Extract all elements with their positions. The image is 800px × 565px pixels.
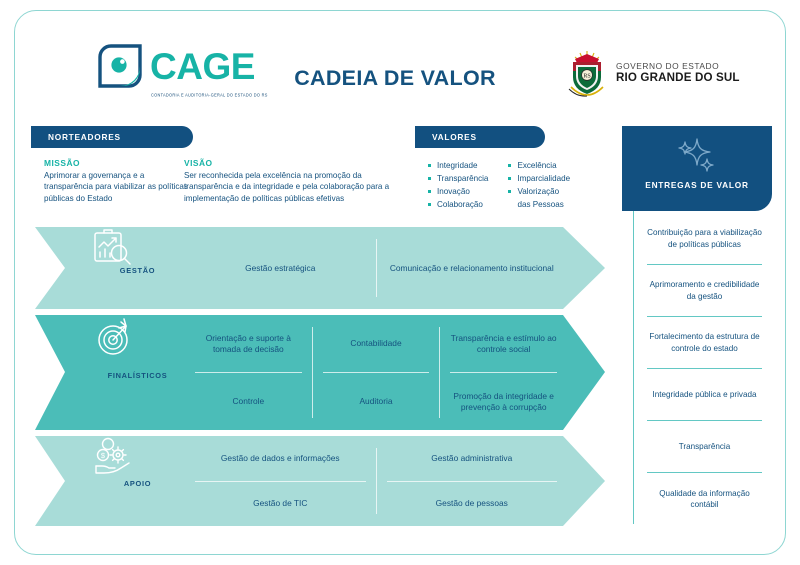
entregas-header: ENTREGAS DE VALOR (622, 126, 772, 211)
finalisticos-icon-column: FINALÍSTICOS (90, 315, 185, 430)
process-cell[interactable]: Orientação e suporte à tomada de decisão (185, 315, 312, 372)
visao-text: Ser reconhecida pela excelência na promo… (184, 170, 399, 204)
visao-label: VISÃO (184, 158, 399, 168)
valores-column-2: ExcelênciaImparcialidadeValorizaçãodas P… (508, 159, 570, 211)
gestao-label: GESTÃO (120, 266, 155, 275)
chevron-row-apoio[interactable]: $ APOIO Gestão de dados e informaçõesGes… (35, 436, 605, 526)
valores-item: Integridade (428, 159, 488, 172)
entregas-title: ENTREGAS DE VALOR (622, 180, 772, 190)
cell-column: Orientação e suporte à tomada de decisão… (185, 315, 312, 430)
cell-column: Transparência e estímulo ao controle soc… (440, 315, 567, 430)
process-cell[interactable]: Auditoria (313, 373, 440, 430)
gov-label-line2: RIO GRANDE DO SUL (616, 71, 740, 84)
visao-block: VISÃO Ser reconhecida pela excelência na… (184, 158, 399, 204)
chevron-row-gestao[interactable]: GESTÃO Gestão estratégicaComunicação e r… (35, 227, 605, 309)
government-logo: RS GOVERNO DO ESTADO RIO GRANDE DO SUL (567, 49, 740, 97)
entregas-list: Contribuição para a viabilização de polí… (633, 211, 772, 524)
process-cell[interactable]: Promoção da integridade e prevenção à co… (440, 373, 567, 430)
cell-column: Gestão de dados e informaçõesGestão de T… (185, 436, 376, 526)
cell-column: Gestão administrativaGestão de pessoas (377, 436, 568, 526)
process-cell[interactable]: Gestão de dados e informações (185, 436, 376, 481)
entrega-item[interactable]: Transparência (647, 421, 762, 473)
cell-column: Gestão estratégica (185, 227, 376, 309)
entregas-de-valor-panel: ENTREGAS DE VALOR Contribuição para a vi… (622, 126, 772, 526)
process-cell[interactable]: Gestão de pessoas (377, 482, 568, 527)
entrega-item[interactable]: Contribuição para a viabilização de polí… (647, 213, 762, 265)
gov-label-line1: GOVERNO DO ESTADO (616, 62, 740, 71)
entrega-item[interactable]: Fortalecimento da estrutura de controle … (647, 317, 762, 369)
rs-coat-of-arms-icon: RS (567, 49, 607, 97)
entrega-item[interactable]: Qualidade da informação contábil (647, 473, 762, 525)
cell-column: Comunicação e relacionamento institucion… (377, 227, 568, 309)
poster-frame: CAGE CONTADORIA E AUDITORIA-GERAL DO EST… (14, 10, 786, 555)
missao-label: MISSÃO (44, 158, 189, 168)
svg-text:$: $ (101, 451, 106, 460)
process-cell[interactable]: Controle (185, 373, 312, 430)
valores-item: Colaboração (428, 198, 488, 211)
banner-valores: VALORES (415, 126, 545, 148)
page-title: CADEIA DE VALOR (270, 66, 520, 91)
gestao-icon-column: GESTÃO (90, 227, 185, 309)
process-cell[interactable]: Gestão administrativa (377, 436, 568, 481)
cage-logo-mark-icon (97, 43, 143, 89)
missao-block: MISSÃO Aprimorar a governança e a transp… (44, 158, 189, 204)
chevron-row-finalisticos[interactable]: FINALÍSTICOS Orientação e suporte à toma… (35, 315, 605, 430)
valores-item: das Pessoas (508, 198, 570, 211)
process-cell[interactable]: Gestão estratégica (185, 227, 376, 309)
entrega-item[interactable]: Aprimoramento e credibilidade da gestão (647, 265, 762, 317)
cage-logo-subtitle: CONTADORIA E AUDITORIA-GERAL DO ESTADO D… (151, 91, 268, 97)
banner-norteadores: NORTEADORES (31, 126, 193, 148)
missao-text: Aprimorar a governança e a transparência… (44, 170, 189, 204)
valores-item: Inovação (428, 185, 488, 198)
finalisticos-cells: Orientação e suporte à tomada de decisão… (185, 315, 567, 430)
cell-column: ContabilidadeAuditoria (313, 315, 440, 430)
gestao-cells: Gestão estratégicaComunicação e relacion… (185, 227, 567, 309)
cage-logo: CAGE CONTADORIA E AUDITORIA-GERAL DO EST… (97, 43, 255, 89)
process-cell[interactable]: Contabilidade (313, 315, 440, 372)
valores-item: Excelência (508, 159, 570, 172)
valores-item: Valorização (508, 185, 570, 198)
finalisticos-label: FINALÍSTICOS (108, 371, 168, 380)
value-chain: GESTÃO Gestão estratégicaComunicação e r… (35, 227, 605, 532)
entrega-item[interactable]: Integridade pública e privada (647, 369, 762, 421)
process-cell[interactable]: Comunicação e relacionamento institucion… (377, 227, 568, 309)
sparkle-icon (674, 135, 720, 180)
process-cell[interactable]: Gestão de TIC (185, 482, 376, 527)
cage-logo-text: CAGE (150, 48, 255, 85)
apoio-cells: Gestão de dados e informaçõesGestão de T… (185, 436, 567, 526)
valores-item: Transparência (428, 172, 488, 185)
process-cell[interactable]: Transparência e estímulo ao controle soc… (440, 315, 567, 372)
header: CAGE CONTADORIA E AUDITORIA-GERAL DO EST… (15, 11, 787, 119)
valores-column-1: IntegridadeTransparênciaInovaçãoColabora… (428, 159, 488, 211)
apoio-icon-column: $ APOIO (90, 436, 185, 526)
svg-text:RS: RS (583, 74, 590, 80)
valores-item: Imparcialidade (508, 172, 570, 185)
apoio-label: APOIO (124, 479, 151, 488)
valores-lists: IntegridadeTransparênciaInovaçãoColabora… (428, 159, 570, 211)
